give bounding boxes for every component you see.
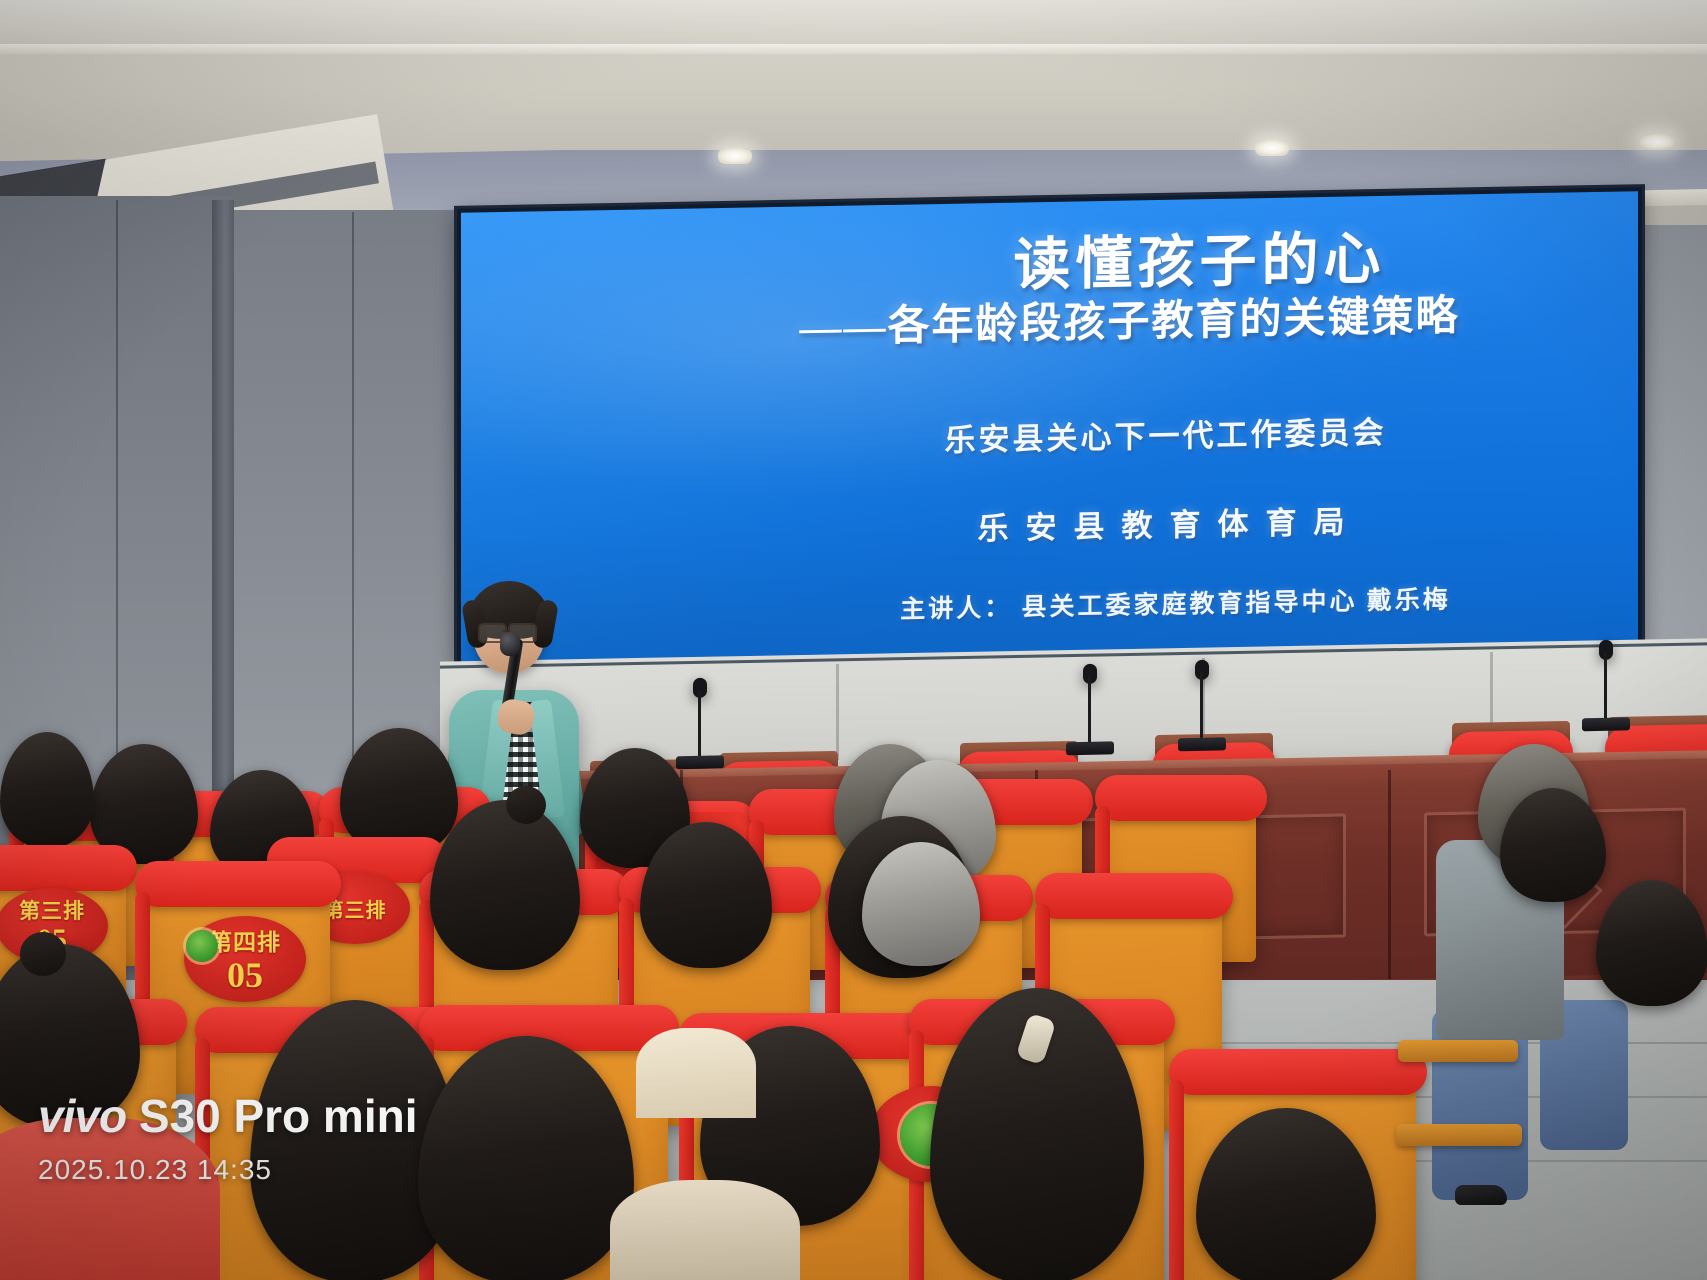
watermark-timestamp: 2025.10.23 14:35 bbox=[38, 1156, 417, 1184]
slide-content: 读懂孩子的心 ——各年龄段孩子教育的关键策略 乐安县关心下一代工作委员会 乐安县… bbox=[461, 191, 1638, 665]
watermark-brand-name: vivo bbox=[38, 1090, 126, 1142]
attendee-shoe bbox=[1455, 1185, 1507, 1205]
projection-screen: 读懂孩子的心 ——各年龄段孩子教育的关键策略 乐安县关心下一代工作委员会 乐安县… bbox=[461, 191, 1638, 665]
attendee-hair-bun bbox=[506, 786, 546, 824]
podium-segment-line bbox=[1388, 770, 1391, 1000]
photo-canvas: 读懂孩子的心 ——各年龄段孩子教育的关键策略 乐安县关心下一代工作委员会 乐安县… bbox=[0, 0, 1707, 1280]
slide-organization-secondary: 乐安县教育体育局 bbox=[738, 496, 1362, 552]
watermark-brand-model: S30 Pro mini bbox=[126, 1090, 417, 1142]
back-wall-seam bbox=[836, 664, 839, 760]
camera-watermark: vivo S30 Pro mini 2025.10.23 14:35 bbox=[38, 1093, 417, 1184]
attendee-shoulders bbox=[610, 1180, 800, 1280]
slide-title: 读懂孩子的心 bbox=[714, 230, 1386, 302]
seat-number-text: 05 bbox=[227, 954, 263, 996]
seat-row-text: 第四排 bbox=[209, 923, 281, 957]
wall-seam bbox=[116, 200, 118, 800]
downlight-icon bbox=[1255, 140, 1289, 156]
seat-armrest bbox=[1398, 1040, 1518, 1062]
seat-emblem-icon bbox=[186, 930, 218, 962]
seat-row-text: 第三排 bbox=[19, 895, 85, 925]
ceiling-front-face bbox=[0, 0, 1707, 44]
wall-pillar bbox=[212, 200, 234, 820]
ceiling-edge-highlight bbox=[0, 44, 1707, 54]
slide-speaker-credit: 主讲人： 县关工委家庭教育指导中心 戴乐梅 bbox=[648, 580, 1451, 631]
slide-organization-primary: 乐安县关心下一代工作委员会 bbox=[713, 407, 1387, 464]
seat-armrest bbox=[1396, 1124, 1522, 1146]
attendee-shoulders bbox=[636, 1028, 756, 1118]
attendee-hair-bun bbox=[20, 932, 66, 976]
wall-seam bbox=[352, 212, 354, 792]
watermark-brand: vivo S30 Pro mini bbox=[38, 1093, 417, 1139]
downlight-icon bbox=[718, 148, 752, 164]
slide-subtitle: ——各年龄段孩子教育的关键策略 bbox=[639, 294, 1459, 354]
handheld-microphone-head bbox=[500, 632, 520, 656]
downlight-icon bbox=[1640, 134, 1674, 150]
